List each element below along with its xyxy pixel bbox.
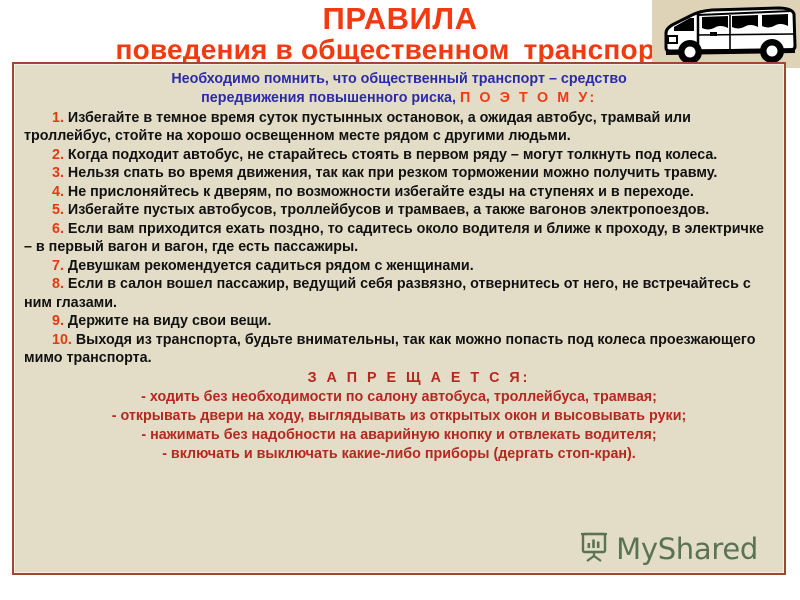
rule-number: 5. [52,202,64,218]
list-item: - открывать двери на ходу, выглядывать и… [24,407,774,426]
rule-number: 10. [52,332,72,348]
rules-panel-inner: Необходимо помнить, что общественный тра… [14,64,784,573]
list-item: 10. Выходя из транспорта, будьте внимате… [24,331,774,368]
list-item: 4. Не прислоняйтесь к дверям, по возможн… [24,183,774,202]
rule-number: 4. [52,184,64,200]
list-item: 2. Когда подходит автобус, не старайтесь… [24,146,774,165]
rule-text: Если в салон вошел пассажир, ведущий себ… [24,276,751,311]
list-item: 3. Нельзя спать во время движения, так к… [24,164,774,183]
title-subject: поведения в общественном [116,34,510,65]
rule-text: Девушкам рекомендуется садиться рядом с … [68,258,474,274]
rule-number: 6. [52,221,64,237]
rules-list: 1. Избегайте в темное время суток пустын… [24,109,774,368]
rule-text: Держите на виду свои вещи. [68,313,271,329]
rule-text: Когда подходит автобус, не старайтесь ст… [68,147,717,163]
minibus-illustration [652,0,800,68]
forbidden-list: - ходить без необходимости по салону авт… [24,388,774,464]
list-item: 6. Если вам приходится ехать поздно, то … [24,220,774,257]
rule-text: Избегайте в темное время суток пустынных… [24,110,691,145]
list-item: 1. Избегайте в темное время суток пустын… [24,109,774,146]
list-item: 5. Избегайте пустых автобусов, троллейбу… [24,201,774,220]
list-item: - ходить без необходимости по салону авт… [24,388,774,407]
rule-text: Избегайте пустых автобусов, троллейбусов… [68,202,709,218]
poster-slide: ПРАВИЛА поведения в общественномтранспор… [0,0,800,600]
myshared-watermark: MyShared [578,530,758,567]
rule-number: 7. [52,258,64,274]
list-item: 7. Девушкам рекомендуется садиться рядом… [24,257,774,276]
rule-text: Выходя из транспорта, будьте внимательны… [24,332,755,367]
rule-text: Не прислоняйтесь к дверям, по возможност… [68,184,694,200]
rule-text: Если вам приходится ехать поздно, то сад… [24,221,764,256]
intro-line-1: Необходимо помнить, что общественный тра… [171,71,626,87]
intro-line-2: передвижения повышенного риска, [201,90,456,106]
rules-panel: Необходимо помнить, что общественный тра… [12,62,786,575]
rule-number: 2. [52,147,64,163]
forbidden-heading: З А П Р Е Щ А Е Т С Я: [24,369,774,388]
watermark-label: MyShared [616,532,758,566]
rule-number: 9. [52,313,64,329]
list-item: - нажимать без надобности на аварийную к… [24,426,774,445]
list-item: 9. Держите на виду свои вещи. [24,312,774,331]
list-item: - включать и выключать какие-либо прибор… [24,445,774,464]
rule-number: 8. [52,276,64,292]
therefore-emphasis: П О Э Т О М У: [460,90,597,106]
intro-text: Необходимо помнить, что общественный тра… [24,70,774,108]
presentation-chart-icon [578,530,610,567]
rule-number: 1. [52,110,64,126]
poster-header: ПРАВИЛА поведения в общественномтранспор… [0,0,800,58]
rule-number: 3. [52,165,64,181]
rule-text: Нельзя спать во время движения, так как … [68,165,717,181]
list-item: 8. Если в салон вошел пассажир, ведущий … [24,275,774,312]
